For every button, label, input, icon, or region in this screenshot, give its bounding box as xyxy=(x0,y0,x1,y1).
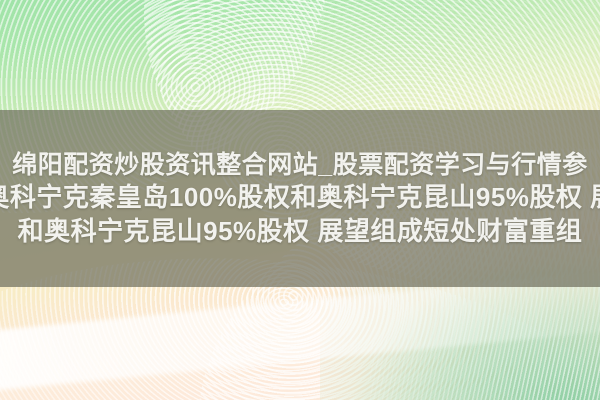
banner-title-line-2: 奥科宁克秦皇岛100%股权和奥科宁克昆山95%股权 展 xyxy=(0,184,600,211)
decorative-title-banner: 绵阳配资炒股资讯整合网站_股票配资学习与行情参 奥科宁克秦皇岛100%股权和奥科… xyxy=(0,0,600,400)
banner-title-line-1: 绵阳配资炒股资讯整合网站_股票配资学习与行情参 xyxy=(12,152,587,178)
banner-title-line-3: 和奥科宁克昆山95%股权 展望组成短处财富重组 xyxy=(18,218,583,245)
green-corner-line-texture xyxy=(370,280,600,400)
title-text-band: 绵阳配资炒股资讯整合网站_股票配资学习与行情参 奥科宁克秦皇岛100%股权和奥科… xyxy=(0,110,600,287)
